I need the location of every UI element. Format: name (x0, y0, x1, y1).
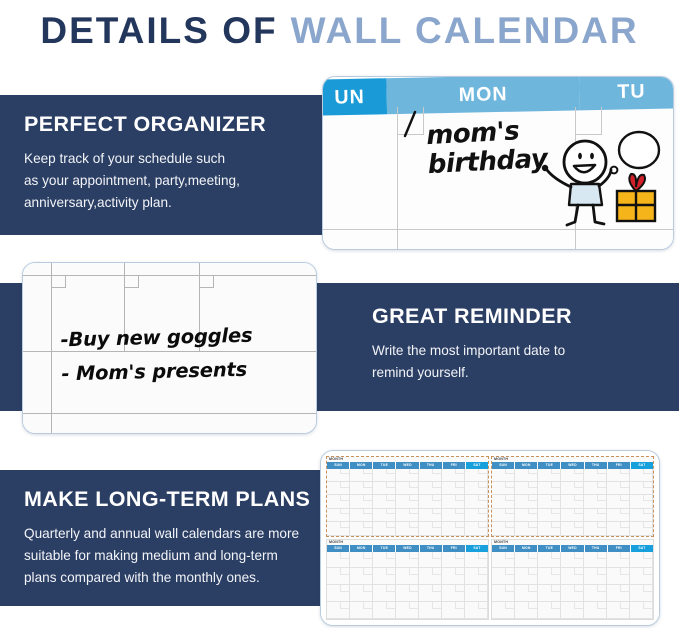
month-block: MONTH SUN MON TUE WED THU FRI SAT (326, 456, 489, 537)
month-day-cells (492, 469, 653, 536)
day-header-wed: WED (396, 462, 419, 469)
day-header-sat: SAT (466, 462, 488, 469)
page-title-dark: DETAILS OF (40, 10, 277, 52)
handwritten-stroke-icon (401, 110, 419, 140)
handwritten-note-line-2: birthday (427, 145, 548, 180)
month-day-cells (327, 552, 488, 619)
day-header-tue: TUE (538, 545, 561, 552)
day-header-tue: TUE (538, 462, 561, 469)
day-header-sat: SAT (631, 545, 653, 552)
day-header-sun: SUN (492, 462, 515, 469)
grid-line-horizontal (23, 275, 316, 276)
section-body-line: anniversary,activity plan. (24, 192, 306, 214)
day-header-sun: SUN (327, 462, 350, 469)
day-header-wed: WED (561, 545, 584, 552)
day-header-tue: TU (579, 76, 674, 110)
section-heading-perfect-organizer: PERFECT ORGANIZER (24, 113, 306, 137)
day-header-mon: MON (350, 462, 373, 469)
day-header-sun: SUN (492, 545, 515, 552)
calendar-closeup: UN MON TU mom's birthday (323, 77, 673, 249)
calendar-closeup-image: UN MON TU mom's birthday (322, 76, 674, 250)
section-body-line: Write the most important date to (372, 340, 659, 362)
day-header-thu: THU (585, 462, 608, 469)
section-body-line: Keep track of your schedule such (24, 148, 306, 170)
section-body-line: remind yourself. (372, 362, 659, 384)
day-header-fri: FRI (443, 462, 466, 469)
section-body-line: as your appointment, party,meeting, (24, 170, 306, 192)
day-header-row: SUN MON TUE WED THU FRI SAT (492, 462, 653, 469)
grid-line-vertical (51, 263, 52, 433)
section-heading-great-reminder: GREAT REMINDER (372, 305, 659, 329)
date-cell-box (124, 275, 139, 288)
whiteboard-image: -Buy new goggles - Mom's presents (22, 262, 317, 434)
quarterly-planner-image: MONTH SUN MON TUE WED THU FRI SAT (320, 450, 660, 626)
day-header-sat: SAT (466, 545, 488, 552)
page-title: DETAILS OF WALL CALENDAR (0, 0, 679, 62)
quarterly-planner: MONTH SUN MON TUE WED THU FRI SAT (321, 451, 659, 625)
product-detail-infographic: DETAILS OF WALL CALENDAR UN MON TU mo (0, 0, 679, 628)
day-header-wed: WED (396, 545, 419, 552)
month-block: MONTH SUN MON TUE WED THU FRI SAT (491, 539, 654, 620)
day-header-row: SUN MON TUE WED THU FRI SAT (492, 545, 653, 552)
whiteboard: -Buy new goggles - Mom's presents (23, 263, 316, 433)
day-header-mon: MON (350, 545, 373, 552)
day-header-fri: FRI (608, 462, 631, 469)
whiteboard-note-line-2: - Mom's presents (61, 353, 254, 392)
date-cell-box (51, 275, 66, 288)
whiteboard-note-line-1: -Buy new goggles (60, 319, 253, 358)
day-header-mon: MON (515, 462, 538, 469)
month-block: MONTH SUN MON TUE WED THU FRI SAT (491, 456, 654, 537)
day-header-fri: FRI (443, 545, 466, 552)
quarterly-month-grid: MONTH SUN MON TUE WED THU FRI SAT (326, 456, 654, 620)
date-cell-box (199, 275, 214, 288)
month-day-cells (492, 552, 653, 619)
stick-figure-icon (538, 129, 668, 229)
day-header-tue: TUE (373, 545, 396, 552)
day-header-sat: SAT (631, 462, 653, 469)
month-day-cells (327, 469, 488, 536)
page-title-light: WALL CALENDAR (291, 10, 639, 52)
section-perfect-organizer: PERFECT ORGANIZER Keep track of your sch… (0, 95, 322, 235)
stick-figure-illustration (538, 129, 668, 229)
handwritten-note: mom's birthday (426, 116, 548, 180)
day-header-thu: THU (585, 545, 608, 552)
day-header-thu: THU (420, 462, 443, 469)
day-header-sun: SUN (327, 545, 350, 552)
grid-line-horizontal (23, 413, 316, 414)
day-header-fri: FRI (608, 545, 631, 552)
day-header-row: SUN MON TUE WED THU FRI SAT (327, 545, 488, 552)
day-header-thu: THU (420, 545, 443, 552)
day-header-row: SUN MON TUE WED THU FRI SAT (327, 462, 488, 469)
whiteboard-handwritten-note: -Buy new goggles - Mom's presents (60, 319, 253, 392)
grid-line-horizontal (323, 229, 673, 230)
day-header-wed: WED (561, 462, 584, 469)
month-block: MONTH SUN MON TUE WED THU FRI SAT (326, 539, 489, 620)
day-header-mon: MON (515, 545, 538, 552)
day-header-tue: TUE (373, 462, 396, 469)
